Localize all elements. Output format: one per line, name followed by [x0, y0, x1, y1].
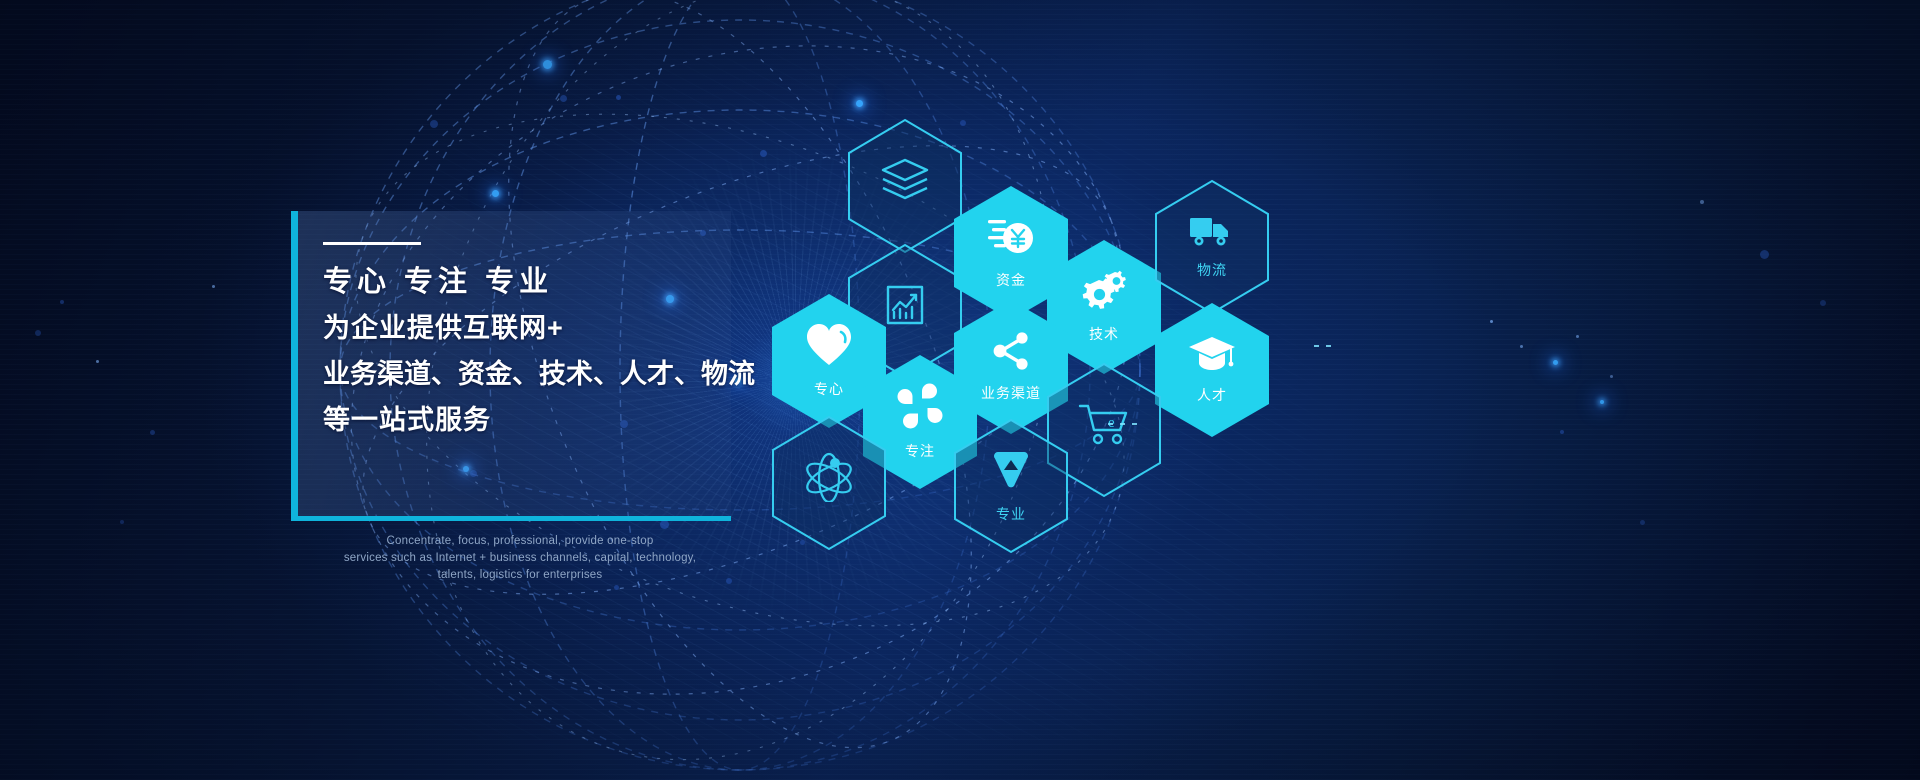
- hex-label: 技术: [1089, 324, 1119, 344]
- yen-coin-icon: [987, 216, 1035, 263]
- hex-label: 人才: [1197, 385, 1227, 405]
- diamond-icon: [990, 448, 1032, 497]
- headline-rule: [323, 242, 421, 245]
- connector-tick: [1120, 423, 1125, 425]
- hero-banner: 专心: [0, 0, 1920, 780]
- hex-label: 专注: [905, 441, 935, 461]
- chart-report-icon: [882, 282, 928, 333]
- headline-line-2: 为企业提供互联网+: [323, 305, 731, 351]
- heart-icon: [805, 323, 853, 372]
- hex-label: 专心: [814, 379, 844, 399]
- ecommerce-cart-icon: e: [1078, 402, 1130, 451]
- headline-panel: 专心 专注 专业 为企业提供互联网+ 业务渠道、资金、技术、人才、物流 等一站式…: [291, 211, 731, 521]
- subtitle-line-3: talents, logistics for enterprises: [300, 567, 740, 584]
- subtitle-line-2: services such as Internet + business cha…: [300, 550, 740, 567]
- hex-label: 业务渠道: [981, 383, 1041, 403]
- hex-zhuanye[interactable]: 专业: [952, 418, 1070, 554]
- connector-tick: [1326, 345, 1331, 347]
- layers-icon: [879, 157, 931, 208]
- share-nodes-icon: [989, 331, 1033, 376]
- clover-icon: [897, 383, 943, 434]
- atom-icon: [802, 452, 856, 507]
- graduation-cap-icon: [1188, 335, 1236, 378]
- connector-tick: [1108, 423, 1113, 425]
- headline-line-3: 业务渠道、资金、技术、人才、物流: [323, 351, 731, 397]
- headline-line-1: 专心 专注 专业: [323, 259, 731, 305]
- hex-atom[interactable]: [770, 415, 888, 551]
- connector-tick: [1314, 345, 1319, 347]
- hexagon-cluster: 专心: [0, 0, 1920, 780]
- subtitle-block: Concentrate, focus, professional, provid…: [300, 533, 740, 584]
- connector-tick: [1132, 423, 1137, 425]
- subtitle-line-1: Concentrate, focus, professional, provid…: [300, 533, 740, 550]
- headline-line-4: 等一站式服务: [323, 397, 731, 443]
- hex-label: 专业: [996, 504, 1026, 524]
- truck-icon: [1189, 214, 1235, 253]
- hex-rencai[interactable]: 人才: [1153, 302, 1271, 438]
- hex-label: 物流: [1197, 260, 1227, 280]
- hex-wuliu[interactable]: 物流: [1153, 179, 1271, 315]
- gears-icon: [1080, 270, 1128, 317]
- hex-layers[interactable]: [846, 118, 964, 254]
- hex-label: 资金: [996, 270, 1026, 290]
